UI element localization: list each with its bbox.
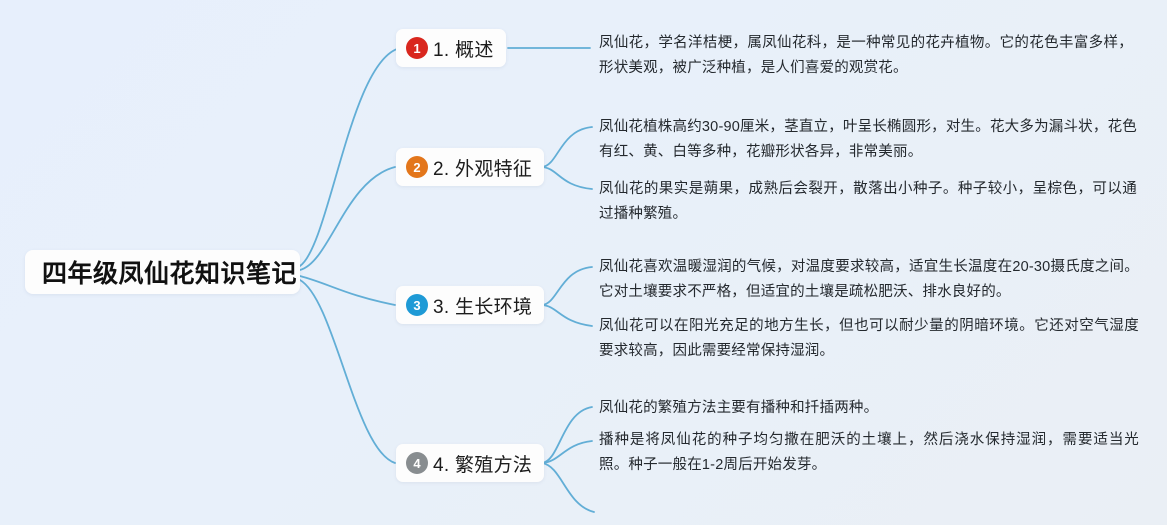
leaf-2-1: 凤仙花植株高约30-90厘米，茎直立，叶呈长椭圆形，对生。花大多为漏斗状，花色有… xyxy=(599,115,1137,165)
branch-node-1[interactable]: 1 1. 概述 xyxy=(396,29,506,67)
link-root-branch-3 xyxy=(300,276,395,305)
leaf-3-1: 凤仙花喜欢温暖湿润的气候，对温度要求较高，适宜生长温度在20-30摄氏度之间。它… xyxy=(599,255,1139,305)
link-root-branch-1 xyxy=(300,48,400,266)
leaf-3-2: 凤仙花可以在阳光充足的地方生长，但也可以耐少量的阴暗环境。它还对空气湿度要求较高… xyxy=(599,314,1139,364)
leaf-4-2: 播种是将凤仙花的种子均匀撒在肥沃的土壤上，然后浇水保持湿润，需要适当光照。种子一… xyxy=(599,428,1139,478)
branch-2-number-badge: 2 xyxy=(406,156,428,178)
root-node[interactable]: 四年级凤仙花知识笔记 xyxy=(25,250,300,294)
branch-node-2[interactable]: 2 2. 外观特征 xyxy=(396,148,544,186)
leaf-4-1: 凤仙花的繁殖方法主要有播种和扦插两种。 xyxy=(599,396,1139,421)
link-root-branch-4 xyxy=(300,280,395,463)
branch-4-label: 4. 繁殖方法 xyxy=(433,450,532,477)
branch-3-label: 3. 生长环境 xyxy=(433,292,532,319)
branch-4-number-badge: 4 xyxy=(406,452,428,474)
link-branch-2-leaf-1 xyxy=(542,127,592,167)
branch-1-label: 1. 概述 xyxy=(433,35,494,62)
link-branch-3-leaf-2 xyxy=(542,305,592,326)
branch-node-3[interactable]: 3 3. 生长环境 xyxy=(396,286,544,324)
leaf-1-1: 凤仙花，学名洋桔梗，属凤仙花科，是一种常见的花卉植物。它的花色丰富多样，形状美观… xyxy=(599,31,1133,81)
mindmap-canvas: 四年级凤仙花知识笔记 1 1. 概述 凤仙花，学名洋桔梗，属凤仙花科，是一种常见… xyxy=(0,0,1167,525)
branch-2-label: 2. 外观特征 xyxy=(433,154,532,181)
branch-3-number-badge: 3 xyxy=(406,294,428,316)
root-node-label: 四年级凤仙花知识笔记 xyxy=(42,254,297,290)
link-branch-3-leaf-1 xyxy=(542,267,592,305)
link-branch-4-leaf-3 xyxy=(542,463,594,512)
branch-node-4[interactable]: 4 4. 繁殖方法 xyxy=(396,444,544,482)
link-branch-4-leaf-1 xyxy=(542,407,592,463)
link-branch-2-leaf-2 xyxy=(542,167,592,189)
link-root-branch-2 xyxy=(300,167,395,270)
leaf-2-2: 凤仙花的果实是蒴果，成熟后会裂开，散落出小种子。种子较小，呈棕色，可以通过播种繁… xyxy=(599,177,1137,227)
branch-1-number-badge: 1 xyxy=(406,37,428,59)
